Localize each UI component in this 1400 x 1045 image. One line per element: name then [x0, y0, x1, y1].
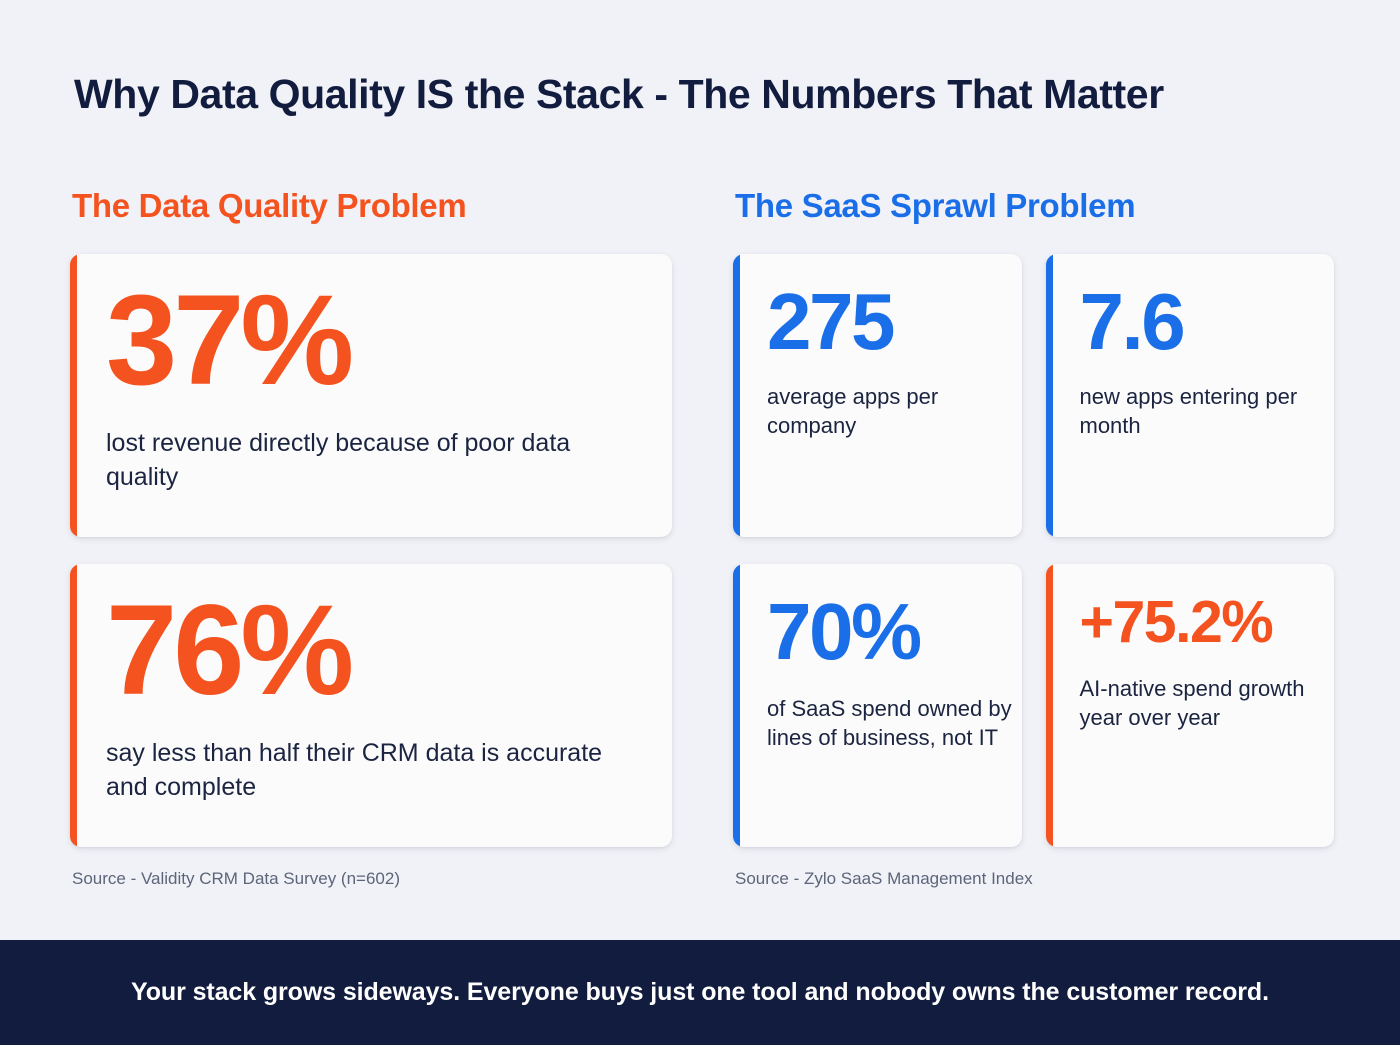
accent-bar-icon	[70, 254, 77, 537]
stat-card-7-6-new-apps: 7.6 new apps entering per month	[1046, 254, 1335, 537]
card-gap	[70, 537, 672, 564]
banner-text: Your stack grows sideways. Everyone buys…	[131, 978, 1269, 1007]
right-column: The SaaS Sprawl Problem 275 average apps…	[733, 186, 1334, 889]
stat-card-ai-native-growth: +75.2% AI-native spend growth year over …	[1046, 564, 1335, 847]
stat-caption: say less than half their CRM data is acc…	[106, 737, 626, 804]
accent-bar-icon	[70, 564, 77, 847]
stat-caption: AI-native spend growth year over year	[1080, 674, 1325, 733]
stat-caption: lost revenue directly because of poor da…	[106, 427, 626, 494]
stat-value: 7.6	[1080, 284, 1335, 360]
right-card-row-top: 275 average apps per company 7.6 new app…	[733, 254, 1334, 537]
stat-value: 275	[767, 284, 1022, 360]
stat-caption: new apps entering per month	[1080, 382, 1325, 441]
page-title: Why Data Quality IS the Stack - The Numb…	[74, 70, 1334, 119]
stat-card-275-apps: 275 average apps per company	[733, 254, 1022, 537]
stat-card-76-percent: 76% say less than half their CRM data is…	[70, 564, 672, 847]
left-column-heading: The Data Quality Problem	[72, 186, 672, 226]
accent-bar-icon	[1046, 254, 1053, 537]
right-column-heading: The SaaS Sprawl Problem	[735, 186, 1334, 226]
left-source-note: Source - Validity CRM Data Survey (n=602…	[72, 869, 672, 889]
stat-value: +75.2%	[1080, 594, 1335, 650]
right-source-note: Source - Zylo SaaS Management Index	[735, 869, 1334, 889]
bottom-banner: Your stack grows sideways. Everyone buys…	[0, 940, 1400, 1045]
stat-caption: average apps per company	[767, 382, 1012, 441]
stat-value: 70%	[767, 594, 1022, 670]
accent-bar-icon	[1046, 564, 1053, 847]
stat-caption: of SaaS spend owned by lines of business…	[767, 694, 1012, 753]
infographic-page: Why Data Quality IS the Stack - The Numb…	[0, 0, 1400, 1045]
stat-card-37-percent: 37% lost revenue directly because of poo…	[70, 254, 672, 537]
accent-bar-icon	[733, 254, 740, 537]
stat-value: 37%	[106, 280, 672, 402]
stat-card-70-percent-spend: 70% of SaaS spend owned by lines of busi…	[733, 564, 1022, 847]
stat-value: 76%	[106, 590, 672, 712]
card-gap	[733, 537, 1334, 564]
right-card-row-bottom: 70% of SaaS spend owned by lines of busi…	[733, 564, 1334, 847]
accent-bar-icon	[733, 564, 740, 847]
left-column: The Data Quality Problem 37% lost revenu…	[70, 186, 672, 889]
